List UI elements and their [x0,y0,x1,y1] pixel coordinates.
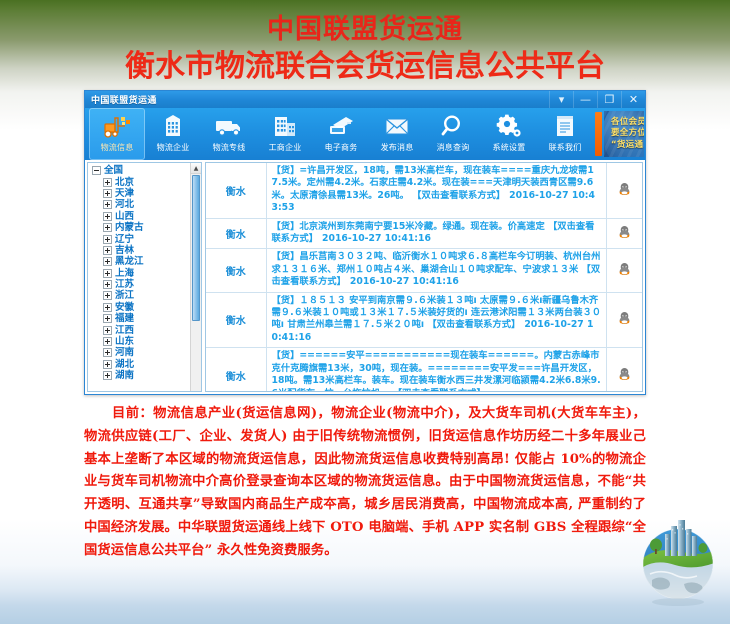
banner-line-1: 各位会员 [611,117,644,129]
expand-icon[interactable] [103,360,112,369]
expand-icon[interactable] [103,257,112,266]
tree-node-17[interactable]: 湖南 [91,370,190,381]
envelope-icon [380,111,414,141]
row-city: 衡水 [206,348,266,392]
tree-node-label: 湖南 [115,370,134,381]
tree-node-label: 江苏 [115,279,134,290]
toolbar-item-publish-message[interactable]: 发布消息 [369,108,425,160]
close-icon[interactable]: ✕ [621,91,645,108]
toolbar-divider [595,112,602,156]
page-title-line-1: 中国联盟货运通 [0,14,730,46]
expand-icon[interactable] [103,303,112,312]
scrollbar-thumb[interactable] [192,175,200,321]
tree-node-label: 黑龙江 [115,256,144,267]
tree-node-label: 全国 [104,165,123,176]
tree-node-label: 辽宁 [115,234,134,245]
tree-node-2[interactable]: 河北 [91,199,190,210]
expand-icon[interactable] [103,314,112,323]
dropdown-icon[interactable]: ▾ [549,91,573,108]
tree-node-label: 江西 [115,325,134,336]
table-row[interactable]: 衡水【货】=许昌开发区，18吨，需13米高栏车，现在装车====重庆九龙坡需17… [206,163,642,218]
window-titlebar[interactable]: 中国联盟货运通 ▾ — ❐ ✕ [85,91,645,108]
expand-icon[interactable] [103,371,112,380]
toolbar-notice-banner[interactable]: 各位会员 要全方位测试 “货运通”功能! [604,111,644,157]
tree-node-1[interactable]: 天津 [91,188,190,199]
tree-node-label: 天津 [115,188,134,199]
toolbar-item-logistics-company[interactable]: 物流企业 [145,108,201,160]
table-row[interactable]: 衡水【货】======安平===========现在装车======。内蒙古赤峰… [206,348,642,392]
toolbar-label: 物流企业 [157,142,190,153]
expand-icon[interactable] [103,269,112,278]
tree-node-6[interactable]: 吉林 [91,245,190,256]
row-message[interactable]: 【货】北京滨州到东莞南宁要15米冷藏。绿通。现在装。价高速定 【双击查看联系方式… [266,218,606,249]
gear-icon [492,111,526,141]
table-row[interactable]: 衡水【货】北京滨州到东莞南宁要15米冷藏。绿通。现在装。价高速定 【双击查看联系… [206,218,642,249]
qq-contact-icon[interactable] [606,348,642,392]
toolbar-label: 系统设置 [493,142,526,153]
tree-node-label: 上海 [115,268,134,279]
expand-icon[interactable] [103,337,112,346]
toolbar-label: 物流专线 [213,142,246,153]
window-body: 全国 北京天津河北山西内蒙古辽宁吉林黑龙江上海江苏浙江安徽福建江西山东河南湖北湖… [85,160,645,394]
toolbar-item-system-settings[interactable]: 系统设置 [481,108,537,160]
truck-icon [212,111,246,141]
app-window: 中国联盟货运通 ▾ — ❐ ✕ 物流信息 [84,90,646,395]
expand-icon[interactable] [103,212,112,221]
toolbar-item-ecommerce[interactable]: 电子商务 [313,108,369,160]
magnifier-icon [436,111,470,141]
tree-node-14[interactable]: 山东 [91,336,190,347]
main-toolbar: 物流信息 物流企业 [85,108,645,160]
description-block: 目前：物流信息产业(货运信息网)，物流企业(物流中介)，及大货车司机(大货车车主… [84,403,646,563]
toolbar-item-message-query[interactable]: 消息查询 [425,108,481,160]
tree-node-9[interactable]: 江苏 [91,279,190,290]
message-table: 衡水【货】=许昌开发区，18吨，需13米高栏车，现在装车====重庆九龙坡需17… [206,163,642,392]
qq-contact-icon[interactable] [606,163,642,218]
tree-node-label: 河南 [115,347,134,358]
globe-city-graphic [632,512,724,608]
tree-node-label: 湖北 [115,359,134,370]
tree-node-3[interactable]: 山西 [91,211,190,222]
row-city: 衡水 [206,292,266,348]
region-tree-pane: 全国 北京天津河北山西内蒙古辽宁吉林黑龙江上海江苏浙江安徽福建江西山东河南湖北湖… [87,162,202,392]
tree-node-12[interactable]: 福建 [91,313,190,324]
banner-line-3: “货运通”功能! [611,140,644,152]
tree-node-8[interactable]: 上海 [91,268,190,279]
tree-node-label: 河北 [115,199,134,210]
collapse-icon[interactable] [92,166,101,175]
tree-node-7[interactable]: 黑龙江 [91,256,190,267]
minimize-icon[interactable]: — [573,91,597,108]
toolbar-label: 物流信息 [101,142,134,153]
region-tree: 全国 北京天津河北山西内蒙古辽宁吉林黑龙江上海江苏浙江安徽福建江西山东河南湖北湖… [88,163,190,391]
tree-node-0[interactable]: 北京 [91,176,190,187]
message-list-pane[interactable]: 衡水【货】=许昌开发区，18吨，需13米高栏车，现在装车====重庆九龙坡需17… [205,162,643,392]
row-timestamp: 2016-10-27 10:41:16 [322,233,431,244]
row-message[interactable]: 【货】１８５１３ 安平到南京需９.６米装１３吨ı 太原需９.６米ı新疆乌鲁木齐需… [266,292,606,348]
expand-icon[interactable] [103,178,112,187]
tree-node-label: 山东 [115,336,134,347]
expand-icon[interactable] [103,326,112,335]
building-icon [156,111,190,141]
row-city: 衡水 [206,249,266,292]
pos-terminal-icon [324,111,358,141]
row-timestamp: 2016-10-27 10:41:16 [350,276,459,287]
expand-icon[interactable] [103,280,112,289]
scroll-up-icon[interactable]: ▲ [191,163,201,174]
office-icon [268,111,302,141]
expand-icon[interactable] [103,189,112,198]
qq-contact-icon[interactable] [606,292,642,348]
expand-icon[interactable] [103,235,112,244]
row-message[interactable]: 【货】=许昌开发区，18吨，需13米高栏车，现在装车====重庆九龙坡需17.5… [266,163,606,218]
expand-icon[interactable] [103,200,112,209]
banner-line-2: 要全方位测试 [611,128,644,140]
tree-node-15[interactable]: 河南 [91,347,190,358]
page-title-line-2: 衡水市物流联合会货运信息公共平台 [0,49,730,85]
table-row[interactable]: 衡水【货】１８５１３ 安平到南京需９.６米装１３吨ı 太原需９.６米ı新疆乌鲁木… [206,292,642,348]
tree-node-root[interactable]: 全国 [91,165,190,176]
toolbar-label: 联系我们 [549,142,582,153]
tree-node-label: 北京 [115,177,134,188]
tree-node-label: 安徽 [115,302,134,313]
row-city: 衡水 [206,218,266,249]
tree-node-4[interactable]: 内蒙古 [91,222,190,233]
toolbar-item-logistics-line[interactable]: 物流专线 [201,108,257,160]
toolbar-label: 发布消息 [381,142,414,153]
tree-node-10[interactable]: 浙江 [91,290,190,301]
description-paragraph: 目前：物流信息产业(货运信息网)，物流企业(物流中介)，及大货车司机(大货车车主… [84,403,646,563]
row-message[interactable]: 【货】======安平===========现在装车======。内蒙古赤峰市克… [266,348,606,392]
tree-node-label: 山西 [115,211,134,222]
tree-node-label: 吉林 [115,245,134,256]
window-title: 中国联盟货运通 [85,93,157,106]
document-icon [548,111,582,141]
toolbar-label: 消息查询 [437,142,470,153]
toolbar-item-contact-us[interactable]: 联系我们 [537,108,593,160]
maximize-icon[interactable]: ❐ [597,91,621,108]
row-city: 衡水 [206,163,266,218]
toolbar-item-industrial-company[interactable]: 工商企业 [257,108,313,160]
tree-node-label: 福建 [115,313,134,324]
tree-node-11[interactable]: 安徽 [91,302,190,313]
tree-node-label: 内蒙古 [115,222,144,233]
tree-node-5[interactable]: 辽宁 [91,233,190,244]
expand-icon[interactable] [103,246,112,255]
qq-contact-icon[interactable] [606,218,642,249]
row-message[interactable]: 【货】昌乐莒南３０３２吨、临沂衡水１０吨求６.８高栏车今订明装、杭州台州求１３１… [266,249,606,292]
expand-icon[interactable] [103,223,112,232]
tree-scrollbar[interactable]: ▲ [190,163,201,391]
tree-node-13[interactable]: 江西 [91,324,190,335]
page-title: 中国联盟货运通 衡水市物流联合会货运信息公共平台 [0,14,730,85]
window-controls: ▾ — ❐ ✕ [549,91,645,108]
tree-node-label: 浙江 [115,290,134,301]
row-message-text: 【货】======安平===========现在装车======。内蒙古赤峰市克… [272,350,601,392]
toolbar-item-logistics-info[interactable]: 物流信息 [89,108,145,160]
expand-icon[interactable] [103,348,112,357]
tree-node-16[interactable]: 湖北 [91,359,190,370]
expand-icon[interactable] [103,291,112,300]
row-message-text: 【货】北京滨州到东莞南宁要15米冷藏。绿通。现在装。价高速定 【双击查看联系方式… [272,221,595,244]
table-row[interactable]: 衡水【货】昌乐莒南３０３２吨、临沂衡水１０吨求６.８高栏车今订明装、杭州台州求１… [206,249,642,292]
toolbar-label: 工商企业 [269,142,302,153]
forklift-icon [100,111,134,141]
qq-contact-icon[interactable] [606,249,642,292]
toolbar-label: 电子商务 [325,142,358,153]
